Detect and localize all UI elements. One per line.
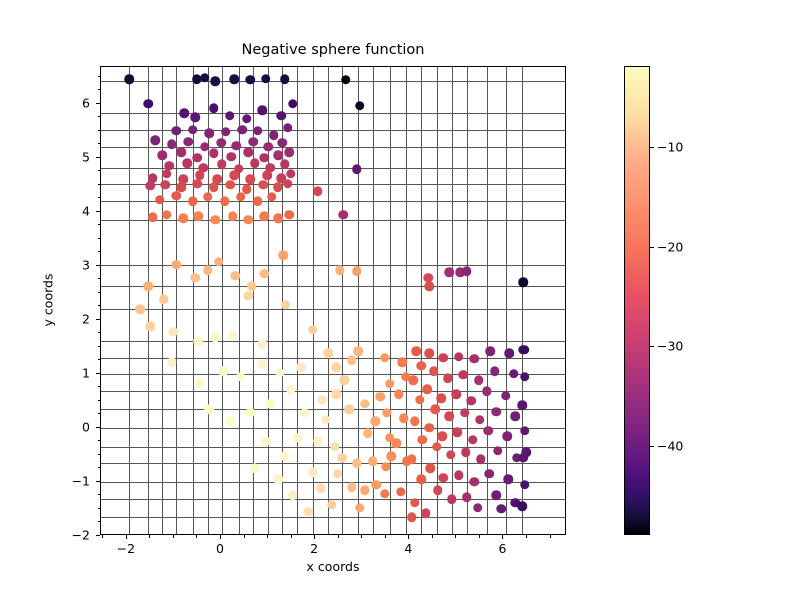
scatter-point — [352, 266, 362, 276]
scatter-point — [520, 426, 530, 436]
scatter-point — [380, 489, 390, 499]
y-minor-tick — [98, 454, 101, 455]
scatter-point — [460, 408, 470, 418]
gridline-horizontal — [101, 184, 565, 185]
scatter-point — [190, 273, 200, 283]
scatter-point — [274, 475, 284, 485]
y-minor-tick — [98, 359, 101, 360]
scatter-point — [467, 396, 477, 406]
scatter-point — [285, 148, 295, 158]
scatter-point — [245, 408, 255, 418]
scatter-point — [473, 503, 483, 513]
scatter-point — [438, 473, 448, 483]
scatter-point — [438, 431, 448, 441]
y-minor-tick — [98, 197, 101, 198]
scatter-point — [410, 417, 420, 427]
scatter-point — [484, 426, 494, 436]
y-tick-label: 1 — [82, 365, 90, 380]
y-minor-tick — [98, 346, 101, 347]
x-tick — [502, 535, 503, 539]
scatter-point — [338, 453, 348, 463]
colorbar-tick — [650, 147, 654, 148]
colorbar-tick — [650, 247, 654, 248]
scatter-point — [242, 114, 252, 124]
scatter-point — [286, 384, 296, 394]
colorbar-tick — [650, 346, 654, 347]
scatter-point — [443, 373, 453, 383]
scatter-point — [190, 113, 200, 123]
colorbar-tick-label: −40 — [657, 438, 683, 453]
scatter-point — [375, 392, 385, 402]
scatter-point — [447, 495, 457, 505]
y-minor-tick — [98, 305, 101, 306]
y-minor-tick — [98, 440, 101, 441]
scatter-point — [124, 75, 134, 85]
scatter-point — [502, 431, 512, 441]
x-minor-tick — [432, 535, 433, 538]
scatter-point — [293, 433, 303, 443]
scatter-point — [416, 475, 426, 485]
scatter-point — [143, 99, 153, 109]
x-minor-tick — [526, 535, 527, 538]
y-axis-label: y coords — [41, 274, 56, 327]
scatter-point — [200, 73, 210, 83]
scatter-point — [188, 196, 198, 206]
y-tick-label: 0 — [82, 419, 90, 434]
scatter-point — [228, 330, 238, 340]
scatter-point — [195, 377, 205, 387]
scatter-point — [162, 169, 172, 179]
scatter-point — [211, 332, 221, 342]
scatter-point — [486, 346, 496, 356]
scatter-point — [344, 404, 354, 414]
scatter-point — [313, 187, 323, 197]
y-minor-tick — [98, 238, 101, 239]
y-tick — [96, 535, 100, 536]
y-minor-tick — [98, 130, 101, 131]
colorbar-tick — [650, 446, 654, 447]
scatter-point — [470, 477, 480, 487]
scatter-point — [324, 349, 334, 359]
scatter-point — [260, 269, 270, 279]
scatter-point — [454, 471, 464, 481]
scatter-point — [352, 164, 362, 174]
colorbar — [624, 66, 650, 535]
scatter-point — [172, 260, 182, 270]
x-axis-label: x coords — [100, 559, 566, 574]
y-minor-tick — [98, 508, 101, 509]
x-tick-label: 6 — [498, 541, 506, 556]
scatter-point — [521, 448, 531, 458]
scatter-point — [446, 450, 456, 460]
scatter-point — [296, 363, 306, 373]
x-minor-tick — [149, 535, 150, 538]
scatter-point — [203, 192, 213, 202]
y-minor-tick — [98, 116, 101, 117]
scatter-point — [283, 123, 293, 133]
scatter-point — [148, 212, 158, 222]
scatter-point — [193, 153, 203, 163]
scatter-point — [355, 101, 365, 111]
scatter-point — [248, 137, 258, 147]
scatter-point — [503, 475, 513, 485]
scatter-point — [391, 438, 401, 448]
scatter-point — [303, 507, 313, 517]
scatter-point — [300, 408, 310, 418]
y-tick-label: −1 — [72, 473, 90, 488]
scatter-point — [277, 111, 287, 121]
x-minor-tick — [196, 535, 197, 538]
scatter-point — [418, 435, 428, 445]
scatter-point — [313, 437, 323, 447]
scatter-point — [220, 196, 230, 206]
scatter-point — [399, 413, 409, 423]
y-tick — [96, 265, 100, 266]
scatter-point — [396, 487, 406, 497]
scatter-point — [209, 149, 219, 159]
scatter-point — [308, 467, 318, 477]
scatter-point — [250, 464, 260, 474]
y-tick-label: 5 — [82, 149, 90, 164]
scatter-point — [462, 266, 472, 276]
scatter-point — [335, 265, 345, 275]
scatter-point — [211, 215, 221, 225]
scatter-point — [518, 400, 528, 410]
scatter-point — [333, 469, 343, 479]
scatter-point — [209, 103, 219, 113]
scatter-point — [172, 191, 182, 201]
scatter-point — [288, 491, 298, 501]
scatter-point — [155, 195, 165, 205]
scatter-point — [363, 429, 373, 439]
scatter-point — [407, 455, 417, 465]
scatter-point — [452, 390, 462, 400]
scatter-point — [225, 111, 235, 121]
scatter-point — [382, 408, 392, 418]
y-tick — [96, 373, 100, 374]
scatter-point — [211, 76, 221, 86]
scatter-point — [339, 210, 349, 220]
scatter-point — [332, 363, 342, 373]
scatter-point — [244, 148, 254, 158]
gridline-horizontal — [101, 220, 565, 221]
y-minor-tick — [98, 467, 101, 468]
scatter-point — [194, 337, 204, 347]
y-minor-tick — [98, 143, 101, 144]
scatter-point — [269, 130, 279, 140]
scatter-point — [259, 180, 269, 190]
scatter-point — [520, 480, 530, 490]
scatter-point — [368, 457, 378, 467]
scatter-point — [385, 379, 395, 389]
scatter-point — [426, 464, 436, 474]
scatter-point — [327, 500, 337, 510]
scatter-point — [415, 395, 425, 405]
scatter-point — [217, 160, 227, 170]
scatter-point — [260, 211, 270, 221]
y-minor-tick — [98, 184, 101, 185]
scatter-point — [372, 480, 382, 490]
scatter-point — [424, 282, 434, 292]
scatter-point — [437, 393, 447, 403]
scatter-point — [262, 170, 272, 180]
x-minor-tick — [550, 535, 551, 538]
scatter-point — [278, 250, 288, 260]
scatter-point — [225, 417, 235, 427]
scatter-point — [229, 170, 239, 180]
scatter-point — [371, 417, 381, 427]
x-minor-tick — [338, 535, 339, 538]
y-minor-tick — [98, 251, 101, 252]
y-tick-label: 6 — [82, 95, 90, 110]
scatter-point — [510, 411, 520, 421]
scatter-point — [245, 75, 255, 85]
scatter-point — [470, 354, 480, 364]
scatter-point — [182, 158, 192, 168]
scatter-point — [501, 391, 511, 401]
scatter-point — [275, 368, 285, 378]
gridline-horizontal — [101, 201, 565, 202]
y-minor-tick — [98, 413, 101, 414]
y-tick-label: 3 — [82, 257, 90, 272]
scatter-point — [227, 152, 237, 162]
scatter-point — [380, 353, 390, 363]
scatter-point — [422, 384, 432, 394]
scatter-point — [135, 304, 145, 314]
scatter-point — [485, 469, 495, 479]
gridline-horizontal — [101, 517, 565, 518]
scatter-point — [261, 74, 271, 84]
gridline-horizontal — [101, 428, 565, 429]
scatter-point — [247, 282, 257, 292]
scatter-point — [266, 399, 276, 409]
scatter-point — [352, 458, 362, 468]
gridline-horizontal — [101, 463, 565, 464]
gridline-horizontal — [101, 81, 565, 82]
scatter-point — [273, 183, 283, 193]
scatter-point — [176, 148, 186, 158]
scatter-point — [146, 181, 156, 191]
scatter-point — [360, 399, 370, 409]
scatter-point — [454, 352, 464, 362]
scatter-point — [229, 75, 239, 85]
scatter-point — [354, 346, 364, 356]
y-minor-tick — [98, 332, 101, 333]
x-tick-label: 4 — [404, 541, 412, 556]
scatter-point — [381, 462, 391, 472]
scatter-point — [462, 492, 472, 502]
scatter-point — [267, 192, 277, 202]
x-tick-label: 0 — [216, 541, 224, 556]
scatter-point — [253, 126, 263, 136]
scatter-point — [200, 142, 210, 152]
y-minor-tick — [98, 521, 101, 522]
scatter-point — [308, 325, 318, 335]
y-tick — [96, 211, 100, 212]
y-tick-label: −2 — [72, 528, 90, 543]
scatter-point — [179, 214, 189, 224]
scatter-point — [219, 366, 229, 376]
scatter-point — [321, 415, 331, 425]
x-tick — [220, 535, 221, 539]
scatter-point — [245, 175, 255, 185]
scatter-point — [159, 295, 169, 305]
scatter-point — [355, 503, 365, 513]
scatter-point — [520, 372, 530, 382]
scatter-point — [216, 138, 226, 148]
scatter-point — [316, 484, 326, 494]
y-minor-tick — [98, 494, 101, 495]
scatter-point — [492, 491, 502, 501]
scatter-point — [459, 370, 469, 380]
scatter-point — [188, 125, 198, 135]
scatter-point — [520, 345, 530, 355]
y-minor-tick — [98, 89, 101, 90]
scatter-point — [424, 349, 434, 359]
scatter-point — [461, 448, 471, 458]
colorbar-tick-label: −20 — [657, 239, 683, 254]
scatter-point — [286, 169, 296, 179]
x-minor-tick — [173, 535, 174, 538]
scatter-point — [509, 369, 519, 379]
scatter-point — [258, 339, 268, 349]
scatter-point — [347, 483, 357, 493]
y-minor-tick — [98, 400, 101, 401]
y-minor-tick — [98, 170, 101, 171]
y-minor-tick — [98, 292, 101, 293]
x-minor-tick — [267, 535, 268, 538]
scatter-point — [193, 179, 203, 189]
scatter-point — [280, 451, 290, 461]
scatter-point — [453, 428, 463, 438]
plot-area — [100, 66, 566, 535]
y-tick — [96, 157, 100, 158]
x-minor-tick — [455, 535, 456, 538]
scatter-point — [283, 179, 293, 189]
scatter-point — [231, 141, 241, 151]
scatter-point — [398, 357, 408, 367]
scatter-point — [209, 183, 219, 193]
colorbar-tick-label: −30 — [657, 339, 683, 354]
scatter-point — [250, 158, 260, 168]
scatter-point — [468, 435, 478, 445]
scatter-point — [172, 126, 182, 136]
y-tick-label: 2 — [82, 311, 90, 326]
scatter-point — [263, 142, 273, 152]
y-tick — [96, 481, 100, 482]
scatter-point — [360, 485, 370, 495]
scatter-point — [445, 268, 455, 278]
scatter-point — [167, 357, 177, 367]
scatter-point — [281, 300, 291, 310]
scatter-point — [194, 211, 204, 221]
scatter-point — [230, 271, 240, 281]
scatter-point — [421, 509, 431, 519]
scatter-point — [205, 404, 215, 414]
scatter-point — [504, 349, 514, 359]
scatter-point — [492, 407, 502, 417]
scatter-point — [221, 127, 231, 137]
x-minor-tick — [385, 535, 386, 538]
scatter-point — [203, 265, 213, 275]
x-tick — [126, 535, 127, 539]
scatter-point — [146, 322, 156, 332]
y-minor-tick — [98, 278, 101, 279]
scatter-point — [244, 215, 254, 225]
scatter-point — [430, 404, 440, 414]
scatter-point — [214, 257, 224, 267]
scatter-point — [341, 75, 351, 85]
scatter-point — [482, 386, 492, 396]
scatter-point — [474, 376, 484, 386]
x-minor-tick — [479, 535, 480, 538]
gridline-horizontal — [101, 482, 565, 483]
scatter-point — [236, 372, 246, 382]
scatter-point — [476, 455, 486, 465]
figure-canvas: Negative sphere function y coords x coor… — [0, 0, 800, 600]
scatter-point — [285, 210, 295, 220]
scatter-point — [408, 376, 418, 386]
scatter-point — [347, 356, 357, 366]
scatter-point — [432, 442, 442, 452]
scatter-point — [180, 109, 190, 119]
scatter-point — [274, 150, 284, 160]
scatter-point — [244, 291, 254, 301]
x-minor-tick — [361, 535, 362, 538]
x-minor-tick — [244, 535, 245, 538]
scatter-point — [475, 415, 485, 425]
scatter-point — [168, 327, 178, 337]
scatter-point — [387, 451, 397, 461]
scatter-point — [260, 153, 270, 163]
scatter-point — [261, 437, 271, 447]
scatter-point — [161, 180, 171, 190]
scatter-point — [226, 180, 236, 190]
gridline-horizontal — [101, 113, 565, 114]
scatter-point — [416, 361, 426, 371]
scatter-point — [317, 395, 327, 405]
scatter-point — [429, 366, 439, 376]
scatter-point — [280, 160, 290, 170]
gridline-horizontal — [101, 341, 565, 342]
scatter-point — [157, 150, 167, 160]
scatter-point — [228, 211, 238, 221]
scatter-point — [496, 504, 506, 514]
scatter-point — [445, 411, 455, 421]
y-tick — [96, 103, 100, 104]
scatter-point — [407, 512, 417, 522]
scatter-point — [410, 498, 420, 508]
scatter-point — [183, 137, 193, 147]
scatter-point — [237, 125, 247, 135]
colorbar-tick-label: −10 — [657, 140, 683, 155]
y-tick — [96, 319, 100, 320]
scatter-point — [167, 140, 177, 150]
scatter-point — [518, 502, 528, 512]
scatter-point — [288, 99, 298, 109]
x-tick — [408, 535, 409, 539]
gridline-horizontal — [101, 309, 565, 310]
y-tick-label: 4 — [82, 203, 90, 218]
x-minor-tick — [291, 535, 292, 538]
scatter-point — [274, 214, 284, 224]
scatter-point — [412, 346, 422, 356]
scatter-point — [332, 390, 342, 400]
scatter-point — [340, 376, 350, 386]
scatter-point — [258, 105, 268, 115]
scatter-point — [258, 359, 268, 369]
chart-title: Negative sphere function — [100, 42, 566, 58]
